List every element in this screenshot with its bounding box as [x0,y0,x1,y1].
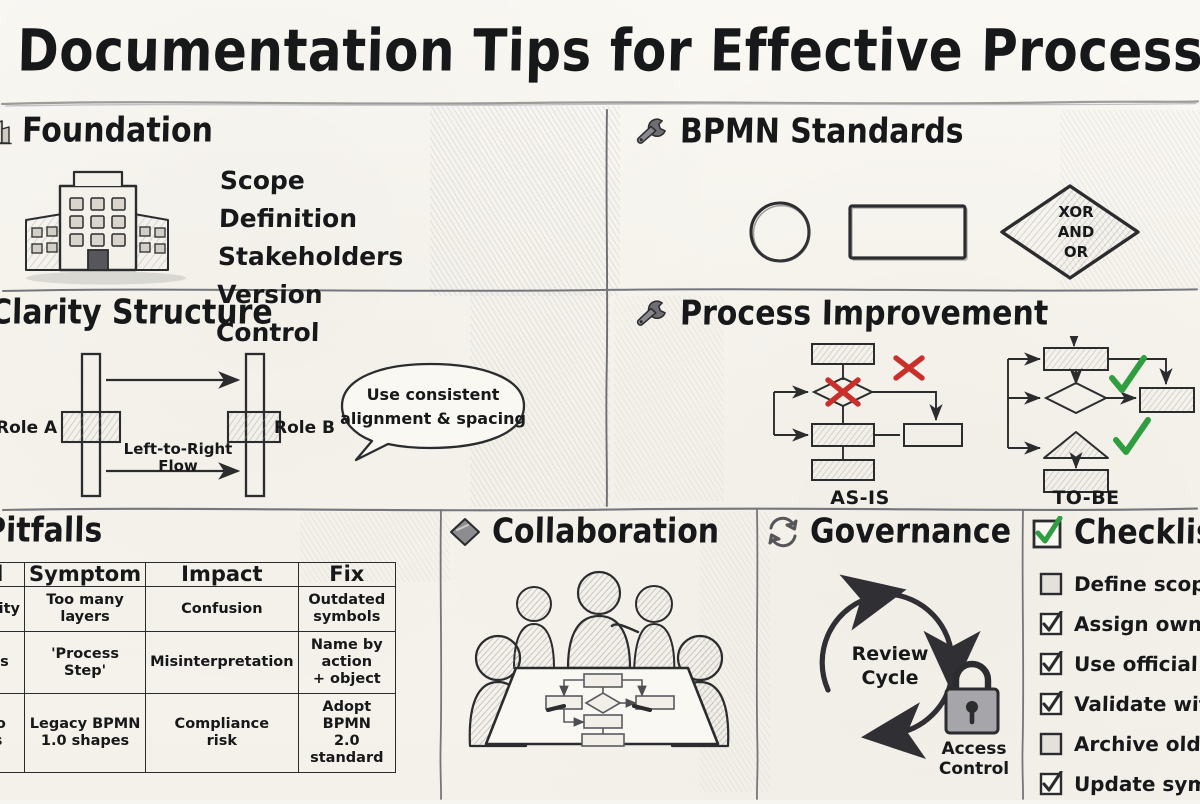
panel-process-improvement: Process Improvement [636,298,1048,330]
diamond-icon [448,516,482,548]
cell-line: Adopt BPMN [322,699,371,732]
cell-line: Outdated [308,592,385,608]
cycle-label-line-2: Cycle [862,667,919,689]
green-check-lower [1116,420,1148,452]
panel-checklist: Checklis Define scope f Assign ownersh [1030,516,1200,550]
cell-line: Misinterpretation [150,654,294,670]
cell-line: mplexity [0,601,20,617]
panel-clarity-structure: Clarity Structure Role A Role B [0,298,273,328]
green-check-upper [1112,358,1144,390]
bpmn-task-rectangle [850,206,967,260]
red-x-on-gateway [828,380,858,404]
swimlane-illustration: Role A Role B Left-to-Right Flow Use con… [0,340,550,515]
cell-line: aths [0,733,2,749]
foundation-item-2: Stakeholders [218,238,404,276]
cell-line: Confusion [181,601,262,617]
cell-symptom-3: Legacy BPMN 1.0 shapes [25,694,146,773]
cell-line: Step' [64,663,106,679]
bpmn-header: BPMN Standards [636,116,964,148]
checklist-item-label: Define scope f [1074,572,1200,596]
foundation-item-1: Scope Definition [218,162,405,238]
lane-label-role-a: Role A [0,418,58,438]
pitfalls-title: Pitfalls [0,514,103,548]
to-be-diagram: TO-BE [1008,336,1194,508]
cell-impact-1: Confusion [146,587,299,632]
gateway-label-or: OR [1064,243,1089,261]
checkbox-checked-icon[interactable] [1038,691,1064,717]
cell-pitfall-1: mplexity [0,587,25,632]
building-badge-icon [0,116,12,146]
wrench-icon [636,116,670,148]
checklist-item-list: Define scope f Assign ownersh Use offici… [1038,564,1200,804]
bpmn-title: BPMN Standards [680,115,964,149]
callout-line-1: Use consistent [367,385,500,404]
cell-impact-3: Compliance risk [146,694,299,773]
checklist-item-1[interactable]: Define scope f [1038,564,1200,604]
person-center [568,572,630,668]
foundation-header: Foundation [0,116,213,146]
bpmn-gateway-diamond: XOR AND OR [1002,186,1138,278]
divider-vertical-bottom-2 [748,508,766,800]
table-row: ify to aths Legacy BPMN 1.0 shapes Compl… [0,694,396,773]
callout-line-2: alignment & spacing [340,409,526,428]
cell-line: layers [60,609,109,625]
checklist-item-3[interactable]: Use official BP [1038,644,1200,684]
gateway-label-xor: XOR [1058,203,1094,221]
cell-line: 2.0 standard [310,733,383,766]
panel-foundation: Foundation [0,116,213,146]
building-illustration [16,158,196,286]
cell-line: + object [313,671,381,687]
checklist-header: Checklis [1030,516,1200,550]
collaboration-header: Collaboration [448,516,719,548]
checkbox-checked-icon[interactable] [1038,611,1064,637]
checklist-title: Checklis [1074,516,1200,550]
pitfalls-table: fall Symptom Impact Fix mplexity Too man… [0,562,396,773]
lane-label-role-b: Role B [274,418,335,438]
cycle-label-line-1: Review [852,643,929,665]
callout-speech-bubble: Use consistent alignment & spacing [340,364,526,460]
governance-illustration: Review Cycle Access Control [784,558,1034,784]
bpmn-start-event-circle [751,203,810,262]
checkbox-unchecked-icon[interactable] [1038,571,1064,597]
divider-vertical-top [596,108,618,508]
checklist-item-label: Archive old ver [1074,732,1200,756]
refresh-cycle-icon [766,516,800,548]
checklist-item-label: Use official BP [1074,652,1200,676]
panel-collaboration: Collaboration [448,516,719,548]
bpmn-shape-row: XOR AND OR [740,174,1160,294]
checked-box-icon [1030,516,1064,550]
cell-line: symbols [313,609,380,625]
cell-line: risk [207,733,237,749]
col-header-impact: Impact [146,563,299,587]
collaboration-title: Collaboration [492,515,720,549]
wrench-icon [636,298,670,330]
table-row: labels 'Process Step' Misinterpretation … [0,632,396,694]
cell-line: labels [0,654,9,670]
checkbox-unchecked-icon[interactable] [1038,731,1064,757]
table-header-row: fall Symptom Impact Fix [0,563,396,587]
as-is-diagram: AS-IS [774,344,962,508]
cell-pitfall-2: labels [0,632,25,694]
cell-pitfall-3: ify to aths [0,694,25,773]
title-underline [0,96,1200,108]
clarity-title: Clarity Structure [0,296,273,330]
col-header-fix: Fix [298,563,395,587]
red-x-on-branch [896,358,922,378]
page-title: Documentation Tips for Effective Process… [17,22,1200,80]
cell-line: 1.0 shapes [41,733,129,749]
foundation-title: Foundation [22,114,214,148]
collaboration-illustration [456,560,746,782]
panel-pitfalls: Pitfalls fall Symptom Impact Fix mplexit… [0,516,102,546]
checklist-item-label: Update symbol [1074,772,1200,796]
cell-line: Legacy BPMN [30,716,141,732]
panel-bpmn-standards: BPMN Standards XOR AND [636,116,964,148]
checkbox-checked-icon[interactable] [1038,771,1064,797]
flow-label-line-1: Left-to-Right [124,440,233,458]
governance-header: Governance [766,516,1011,548]
checkbox-checked-icon[interactable] [1038,651,1064,677]
checklist-item-6[interactable]: Update symbol [1038,764,1200,804]
gateway-label-and: AND [1058,223,1095,241]
cell-symptom-2: 'Process Step' [25,632,146,694]
checklist-item-label: Assign ownersh [1074,612,1200,636]
cell-line: Too many [46,592,124,608]
checklist-item-label: Validate with s [1074,692,1200,716]
table-row: mplexity Too many layers Confusion Outda… [0,587,396,632]
col-header-pitfall: fall [0,563,25,587]
cell-fix-2: Name by action + object [298,632,395,694]
access-control-line-1: Access [941,739,1006,759]
flow-label-line-2: Flow [158,457,198,475]
cell-symptom-1: Too many layers [25,587,146,632]
cell-line: ify to [0,716,6,732]
cell-impact-2: Misinterpretation [146,632,299,694]
improvement-header: Process Improvement [636,298,1048,330]
col-header-symptom: Symptom [25,563,146,587]
access-control-line-2: Control [939,759,1009,779]
cell-fix-1: Outdated symbols [298,587,395,632]
improvement-title: Process Improvement [680,297,1049,331]
divider-vertical-bottom-1 [432,508,450,800]
panel-governance: Governance Review Cycle [766,516,1011,548]
checklist-item-5[interactable]: Archive old ver [1038,724,1200,764]
cell-fix-3: Adopt BPMN 2.0 standard [298,694,395,773]
asis-tobe-illustration: AS-IS [756,336,1196,508]
cell-line: 'Process [51,646,119,662]
governance-title: Governance [810,515,1012,549]
cell-line: Name by action [311,637,383,670]
checklist-item-4[interactable]: Validate with s [1038,684,1200,724]
checklist-item-2[interactable]: Assign ownersh [1038,604,1200,644]
cell-line: Compliance [175,716,270,732]
as-is-caption: AS-IS [830,487,890,508]
to-be-caption: TO-BE [1052,487,1119,508]
pitfalls-header: Pitfalls [0,516,102,546]
clarity-header: Clarity Structure [0,298,273,328]
lock-icon [946,664,998,733]
